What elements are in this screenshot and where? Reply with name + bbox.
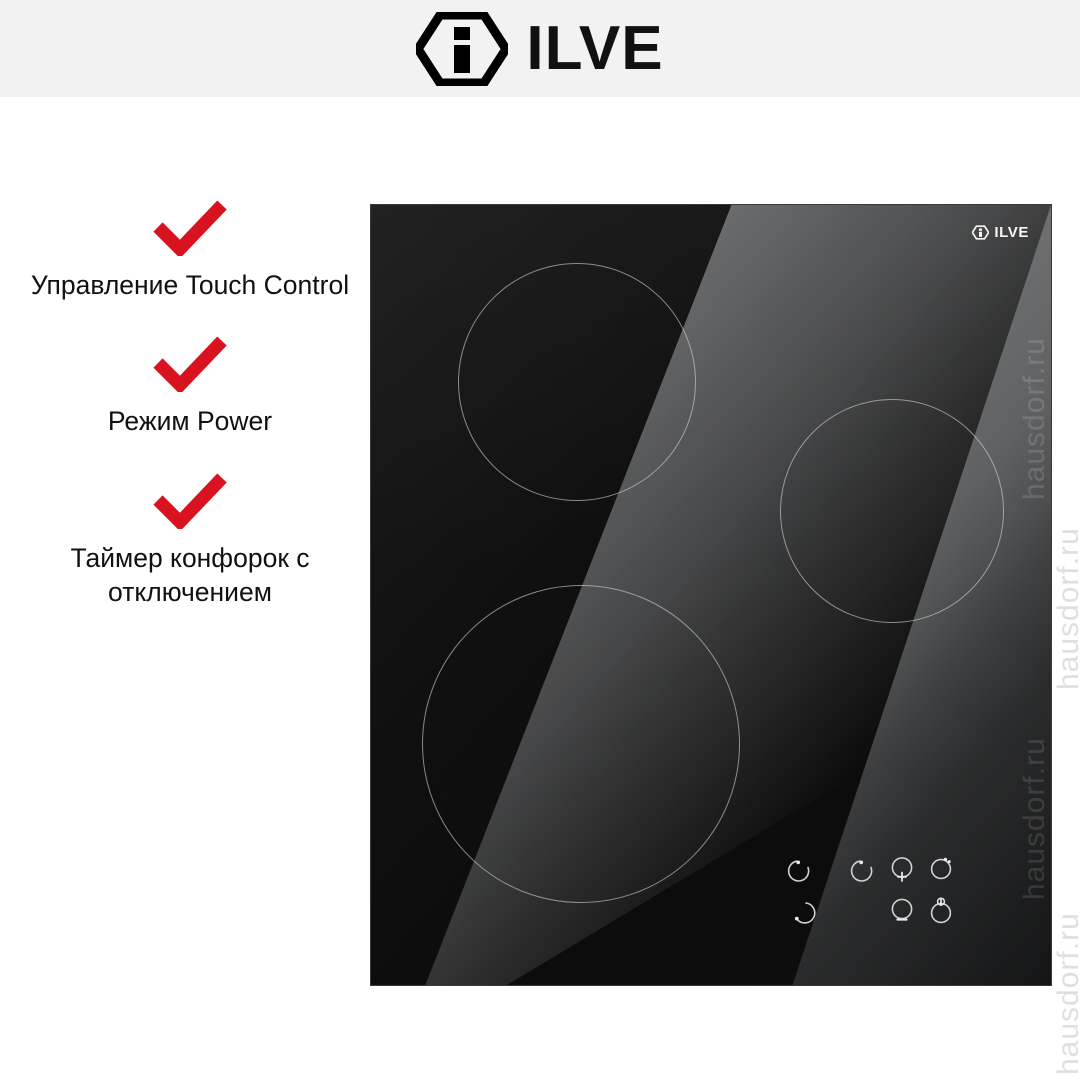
header-band: ILVE [0,0,1080,97]
ilve-hexagon-i-icon [416,12,508,86]
brand-logo: ILVE [416,12,663,86]
decrease-level-button[interactable] [887,896,917,926]
circle-plus-icon [887,854,917,884]
timer-button[interactable] [926,853,956,883]
feature-item-power-mode: Режим Power [12,336,368,438]
burner-right[interactable] [780,399,1004,623]
cooktop-corner-wordmark: ILVE [994,225,1029,240]
zone-select-button[interactable] [849,856,879,886]
power-icon [926,896,956,926]
arc-dot-top-icon [786,856,816,886]
ilve-hexagon-i-icon [972,225,989,240]
feature-label: Управление Touch Control [31,268,349,302]
watermark-text: hausdorf.ru [1052,527,1080,690]
burner-front-left[interactable] [422,585,740,903]
circle-timer-dots-icon [926,853,956,883]
power-button[interactable] [926,896,956,926]
feature-label: Таймер конфорок с отключением [25,541,355,610]
red-checkmark-icon [153,200,227,256]
feature-label: Режим Power [108,404,272,438]
burner-rear-left[interactable] [458,263,696,501]
arc-dot-bottom-icon [786,896,816,926]
slider-increase-button[interactable] [786,856,816,886]
touch-control-panel [786,850,986,940]
red-checkmark-icon [153,473,227,529]
feature-item-touch-control: Управление Touch Control [12,200,368,302]
increase-level-button[interactable] [887,854,917,884]
product-image-cooktop: ILVE [371,205,1051,985]
brand-wordmark: ILVE [526,18,663,80]
cooktop-corner-logo: ILVE [972,225,1029,240]
cooktop-glass-surface: ILVE [371,205,1051,985]
arc-dot-top-icon [849,856,879,886]
circle-minus-icon [887,896,917,926]
feature-list: Управление Touch Control Режим Power Тай… [12,200,368,610]
slider-decrease-button[interactable] [786,896,816,926]
watermark-text: hausdorf.ru [1052,912,1080,1075]
feature-item-burner-timer: Таймер конфорок с отключением [12,473,368,610]
red-checkmark-icon [153,336,227,392]
